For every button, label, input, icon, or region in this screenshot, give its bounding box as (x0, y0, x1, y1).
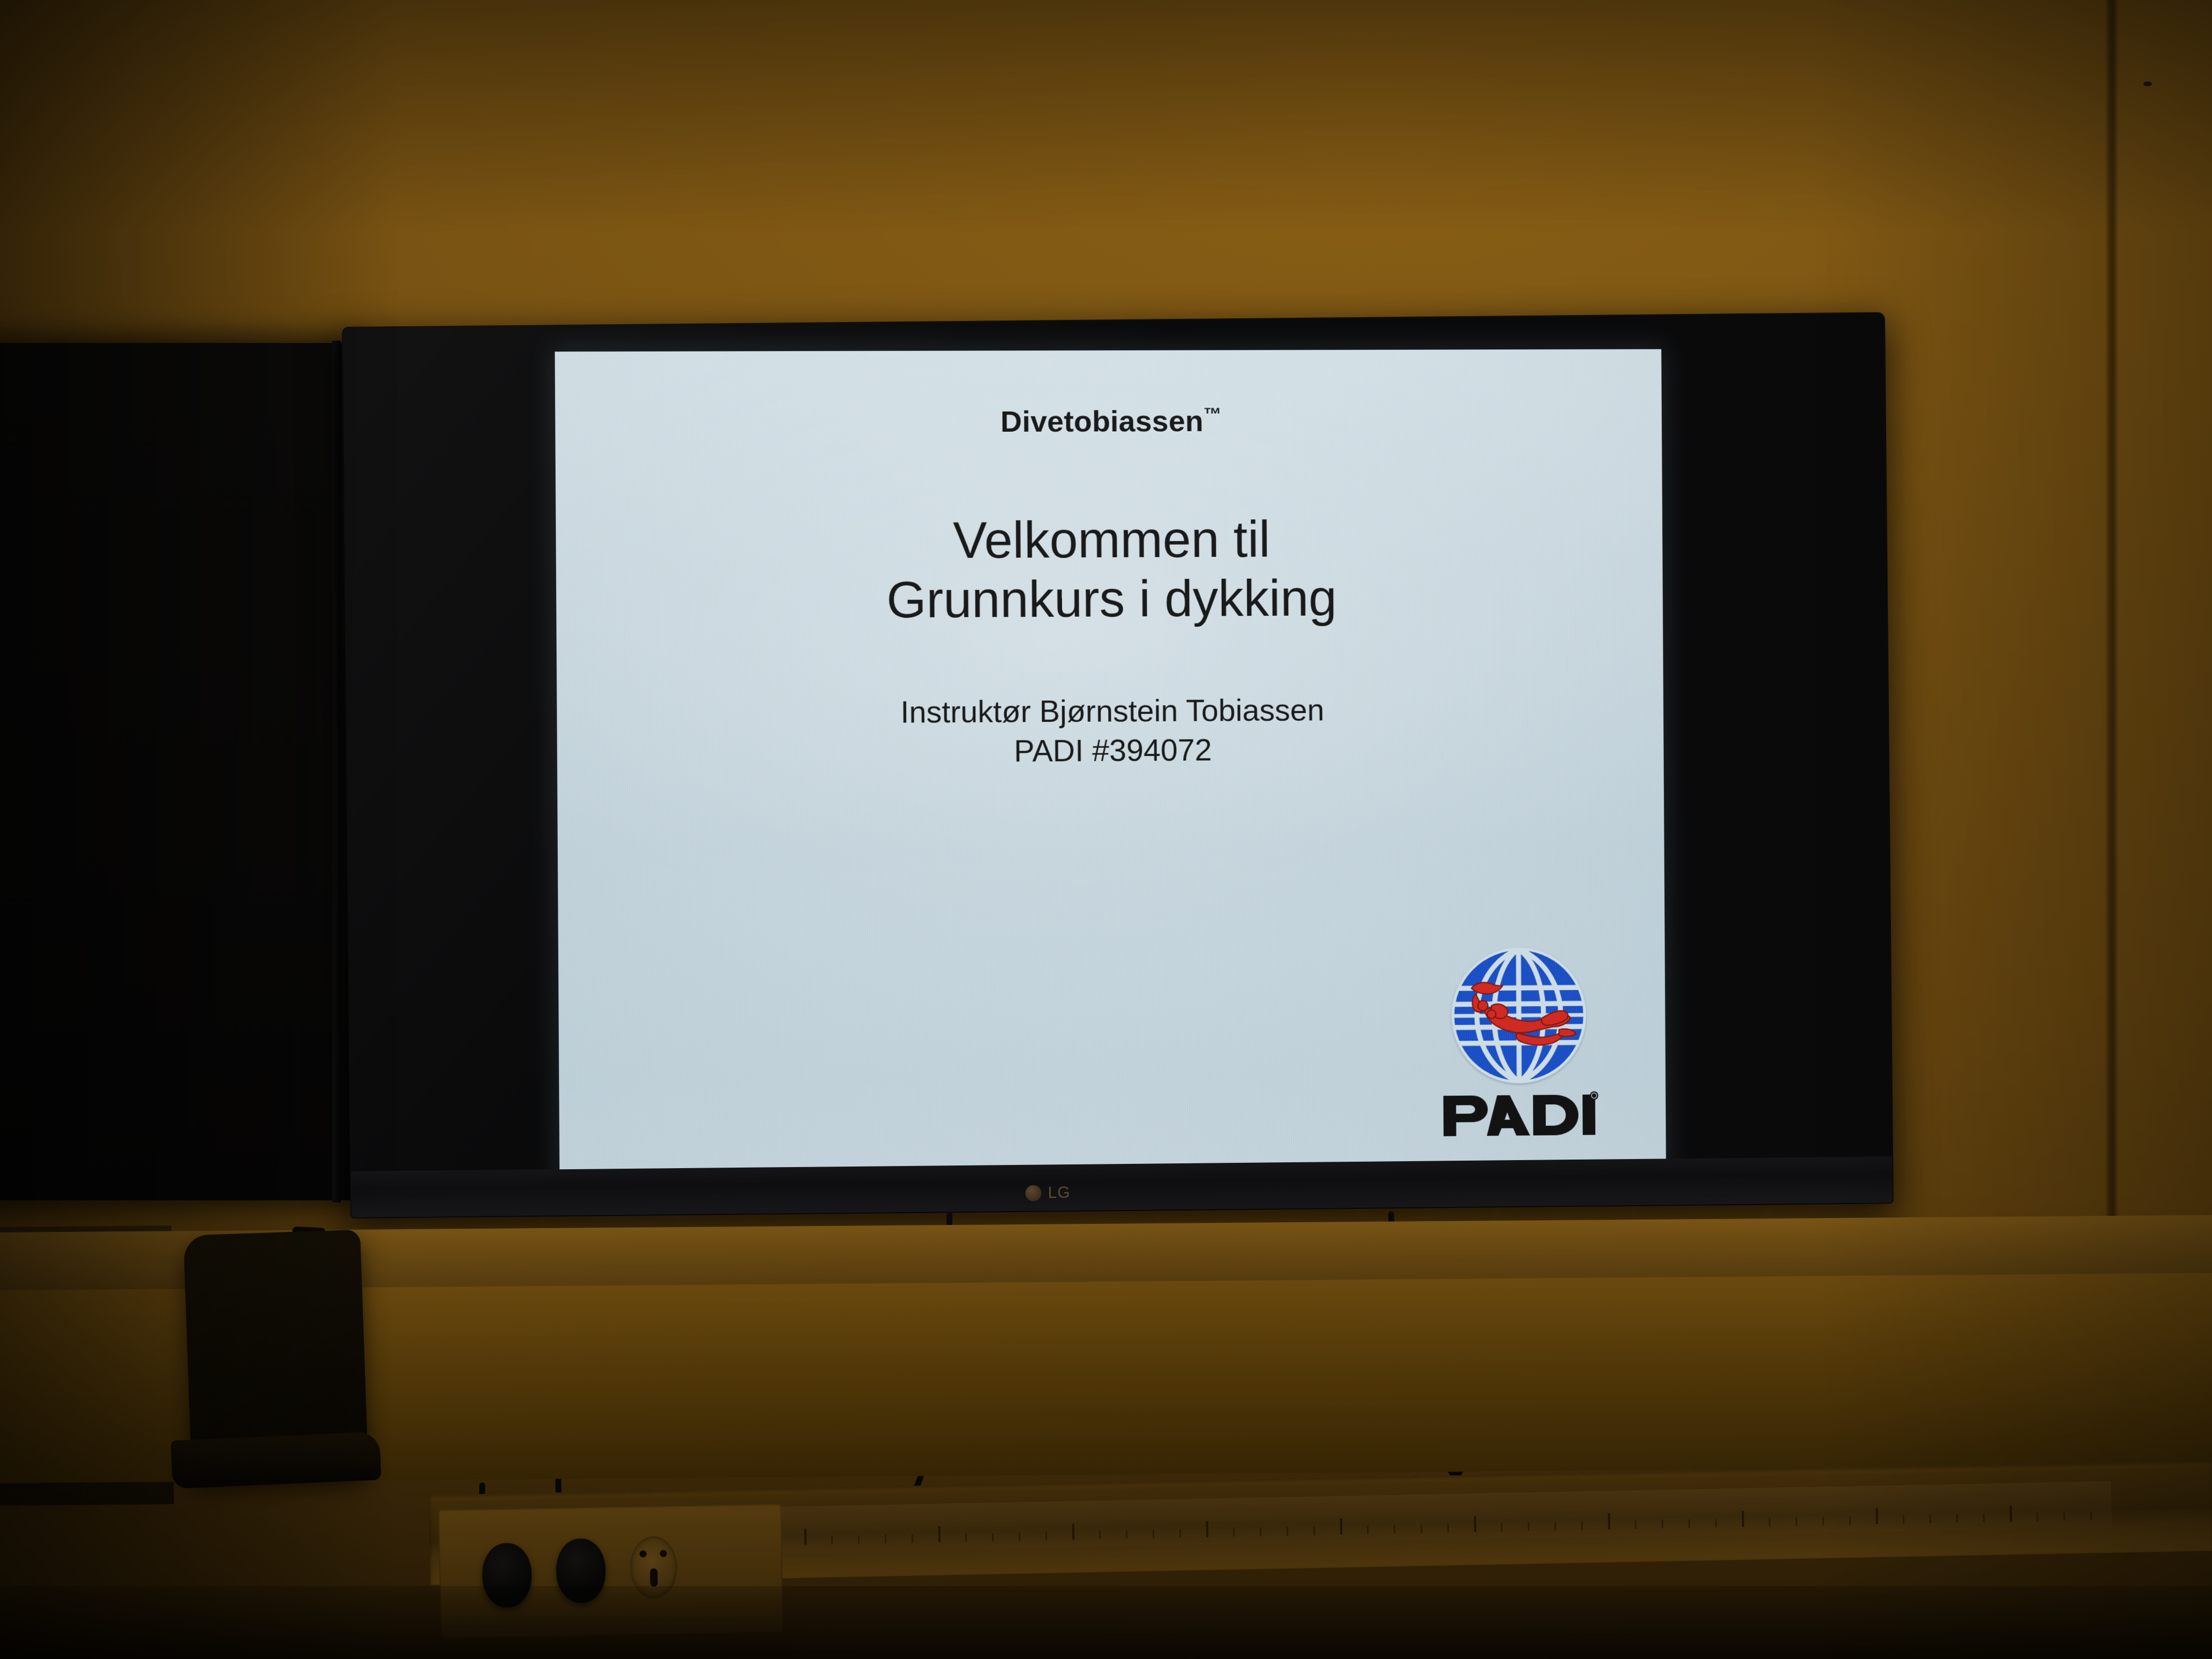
ruler-tick (938, 1526, 941, 1542)
ruler-tick (1555, 1522, 1556, 1530)
ruler-tick (1421, 1525, 1422, 1533)
padi-logo (1434, 943, 1604, 1141)
ruler-tick (1688, 1519, 1690, 1528)
ruler-tick (2037, 1513, 2038, 1521)
ruler-tick (885, 1535, 886, 1543)
ruler-tick (1340, 1519, 1343, 1535)
ruler-tick (831, 1536, 833, 1544)
ruler-tick (1796, 1517, 1797, 1526)
ruler-tick (911, 1534, 913, 1543)
registered-mark (1590, 1092, 1598, 1100)
slide-subtitle: Instruktør Bjørnstein Tobiassen PADI #39… (557, 689, 1664, 774)
ruler-tick (1394, 1525, 1395, 1534)
ruler-tick (1153, 1529, 1154, 1538)
trademark-symbol: ™ (1204, 405, 1222, 425)
board-edge (332, 341, 341, 1202)
ruler-tick (1206, 1521, 1209, 1537)
socket-pin-left (639, 1550, 646, 1557)
slide-title: Velkommen til Grunnkurs i dykking (556, 509, 1663, 632)
ruler-tick (1903, 1515, 1904, 1524)
ruler-tick (1581, 1521, 1583, 1530)
ruler-tick (804, 1529, 807, 1545)
ruler-tick (1179, 1529, 1181, 1538)
ruler-tick (1126, 1530, 1127, 1538)
slide-title-line-1: Velkommen til (556, 509, 1663, 572)
ruler-tick (2090, 1512, 2092, 1520)
ruler-tick (1930, 1515, 1931, 1523)
ruler-tick (965, 1533, 967, 1542)
dark-board-panel (0, 343, 354, 1200)
tv-brand-label: LG (1048, 1184, 1070, 1202)
ruler-tick (1742, 1511, 1744, 1527)
slide-title-line-2: Grunnkurs i dykking (556, 567, 1663, 632)
ruler-tick (1875, 1508, 1878, 1525)
ruler-tick (858, 1535, 860, 1544)
presentation-slide[interactable]: Divetobiassen™ Velkommen til Grunnkurs i… (555, 349, 1666, 1180)
socket-pin-right (660, 1550, 667, 1557)
wall-mounted-tv[interactable]: Divetobiassen™ Velkommen til Grunnkurs i… (343, 313, 1893, 1217)
lg-logo-icon: LG (1025, 1184, 1070, 1202)
ruler-tick (1313, 1527, 1315, 1535)
ruler-tick (1849, 1516, 1851, 1525)
lg-mark-circle (1025, 1185, 1041, 1201)
ruler-tick (1662, 1520, 1663, 1528)
ruler-tick (1233, 1528, 1235, 1537)
wall-mark (2143, 81, 2152, 86)
ruler-tick (1019, 1532, 1020, 1541)
ruler-tick (2064, 1512, 2065, 1521)
ruler-tick (1956, 1514, 1958, 1523)
slide-padi-number-line: PADI #394072 (557, 728, 1664, 774)
ruler-tick (1635, 1520, 1636, 1529)
ruler-tick (1983, 1514, 1985, 1522)
ruler-tick (1447, 1524, 1449, 1533)
slide-instructor-line: Instruktør Bjørnstein Tobiassen (557, 689, 1663, 735)
ruler-tick (1715, 1519, 1717, 1527)
ruler-tick (1822, 1516, 1824, 1525)
padi-wordmark (1440, 1090, 1599, 1141)
ruler-tick (1608, 1513, 1610, 1529)
padi-globe-diver-icon (1447, 943, 1591, 1088)
slide-content: Divetobiassen™ Velkommen til Grunnkurs i… (555, 349, 1666, 1180)
slide-brand-heading: Divetobiassen™ (555, 402, 1662, 440)
ruler-tick (992, 1533, 993, 1541)
ruler-tick (1367, 1526, 1369, 1534)
floor-shadow (0, 1586, 2212, 1659)
ruler-tick (2009, 1506, 2012, 1522)
ruler-tick (1260, 1528, 1261, 1536)
equipment-base (170, 1432, 382, 1489)
ruler-tick (1501, 1523, 1503, 1531)
slide-brand-text: Divetobiassen (1000, 404, 1204, 438)
ruler-tick (1099, 1530, 1101, 1539)
photo-scene: Divetobiassen™ Velkommen til Grunnkurs i… (0, 0, 2212, 1659)
ruler-tick (1072, 1523, 1075, 1540)
ruler-tick (1528, 1522, 1529, 1531)
ruler-tick (1474, 1516, 1477, 1532)
ruler-tick (1769, 1518, 1770, 1526)
ruler-tick (1287, 1527, 1288, 1536)
socket-earth-slot (650, 1568, 658, 1587)
ruler-tick (1045, 1531, 1047, 1540)
